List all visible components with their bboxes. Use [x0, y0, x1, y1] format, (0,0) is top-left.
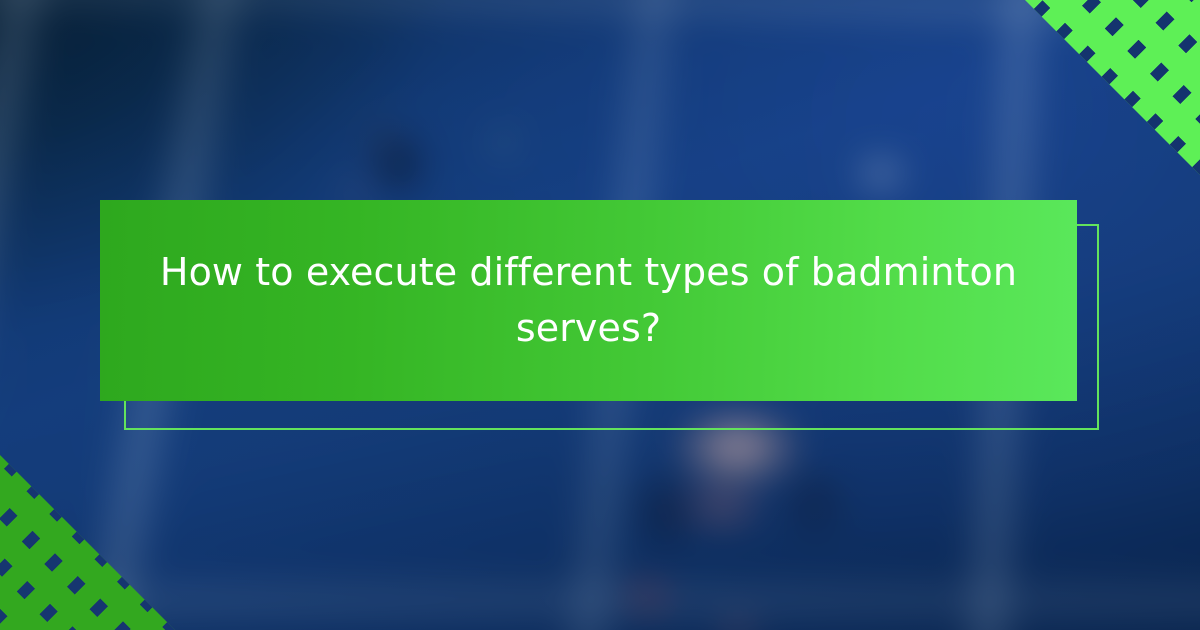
page-title: How to execute different types of badmin… — [146, 245, 1031, 355]
headline-card: How to execute different types of badmin… — [100, 200, 1077, 401]
share-card-canvas: How to execute different types of badmin… — [0, 0, 1200, 630]
